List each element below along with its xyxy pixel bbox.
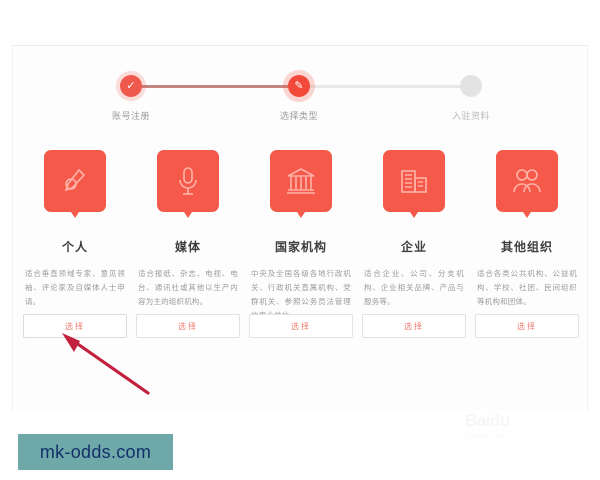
step-label-entry-materials: 入驻资料	[416, 109, 526, 122]
site-tag-badge: mk-odds.com	[18, 434, 173, 470]
tile-tail	[69, 209, 81, 218]
pen-person-icon	[59, 165, 91, 197]
step-account-register[interactable]: ✓ 账号注册	[76, 64, 186, 122]
card-description: 适合报纸、杂志、电视、电台、通讯社或其他以生产内容为主的组织机构。	[138, 267, 238, 309]
select-button-enterprise[interactable]: 选择	[362, 314, 466, 338]
watermark-url: jingyan.baidu.com	[465, 433, 595, 439]
tile-background	[44, 150, 106, 212]
card-title: 个人	[62, 238, 88, 255]
select-button-state-institution[interactable]: 选择	[249, 314, 353, 338]
select-button-row: 选择 选择 选择 选择 选择	[23, 314, 579, 338]
step-dot-todo	[460, 75, 482, 97]
tile-tail	[182, 209, 194, 218]
card-title: 媒体	[175, 238, 201, 255]
account-type-card[interactable]: 国家机构 中央及全国各级各地行政机关、行政机关直属机构、党群机关、参照公务员法管…	[249, 150, 353, 323]
card-title: 企业	[401, 238, 427, 255]
select-button-other-organization[interactable]: 选择	[475, 314, 579, 338]
page-top-strip	[0, 0, 600, 46]
card-description: 适合各类公共机构、公益机构、学校、社团、民间组织等机构和团体。	[477, 267, 577, 309]
tile-background	[383, 150, 445, 212]
baidu-watermark: Baidu jingyan.baidu.com	[465, 412, 595, 446]
card-description: 适合垂直领域专家、意见领袖、评论家及自媒体人士申请。	[25, 267, 125, 309]
microphone-icon	[172, 165, 204, 197]
watermark-brand: Baidu	[465, 412, 595, 429]
site-tag-label: mk-odds.com	[40, 442, 151, 463]
account-type-card[interactable]: 其他组织 适合各类公共机构、公益机构、学校、社团、民间组织等机构和团体。	[475, 150, 579, 323]
office-building-icon	[398, 165, 430, 197]
tile-tail	[521, 209, 533, 218]
blank-icon	[460, 75, 482, 97]
tile-tail	[295, 209, 307, 218]
select-button-media[interactable]: 选择	[136, 314, 240, 338]
account-type-card[interactable]: 企业 适合企业、公司、分支机构、企业相关品牌、产品与服务等。	[362, 150, 466, 323]
step-dot-done: ✓	[120, 75, 142, 97]
step-label-account-register: 账号注册	[76, 109, 186, 122]
step-label-select-type: 选择类型	[244, 109, 354, 122]
card-icon-tile	[44, 150, 106, 224]
card-icon-tile	[383, 150, 445, 224]
check-icon: ✓	[120, 75, 142, 97]
pencil-icon: ✎	[288, 75, 310, 97]
tile-background	[496, 150, 558, 212]
step-entry-materials[interactable]: 入驻资料	[416, 64, 526, 122]
card-icon-tile	[496, 150, 558, 224]
step-dot-active: ✎	[288, 75, 310, 97]
account-type-card-list: 个人 适合垂直领域专家、意见领袖、评论家及自媒体人士申请。 媒体	[23, 150, 579, 323]
tile-background	[157, 150, 219, 212]
card-icon-tile	[270, 150, 332, 224]
tile-background	[270, 150, 332, 212]
card-title: 国家机构	[275, 238, 327, 255]
step-select-type[interactable]: ✎ 选择类型	[244, 64, 354, 122]
government-building-icon	[285, 165, 317, 197]
progress-stepper: ✓ 账号注册 ✎ 选择类型 入驻资料	[13, 64, 589, 134]
account-type-card[interactable]: 媒体 适合报纸、杂志、电视、电台、通讯社或其他以生产内容为主的组织机构。	[136, 150, 240, 323]
registration-panel: ✓ 账号注册 ✎ 选择类型 入驻资料	[12, 46, 588, 411]
card-title: 其他组织	[501, 238, 553, 255]
screenshot-root: ✓ 账号注册 ✎ 选择类型 入驻资料	[0, 0, 600, 480]
card-icon-tile	[157, 150, 219, 224]
two-people-icon	[511, 165, 543, 197]
tile-tail	[408, 209, 420, 218]
select-button-personal[interactable]: 选择	[23, 314, 127, 338]
account-type-card[interactable]: 个人 适合垂直领域专家、意见领袖、评论家及自媒体人士申请。	[23, 150, 127, 323]
card-description: 适合企业、公司、分支机构、企业相关品牌、产品与服务等。	[364, 267, 464, 309]
